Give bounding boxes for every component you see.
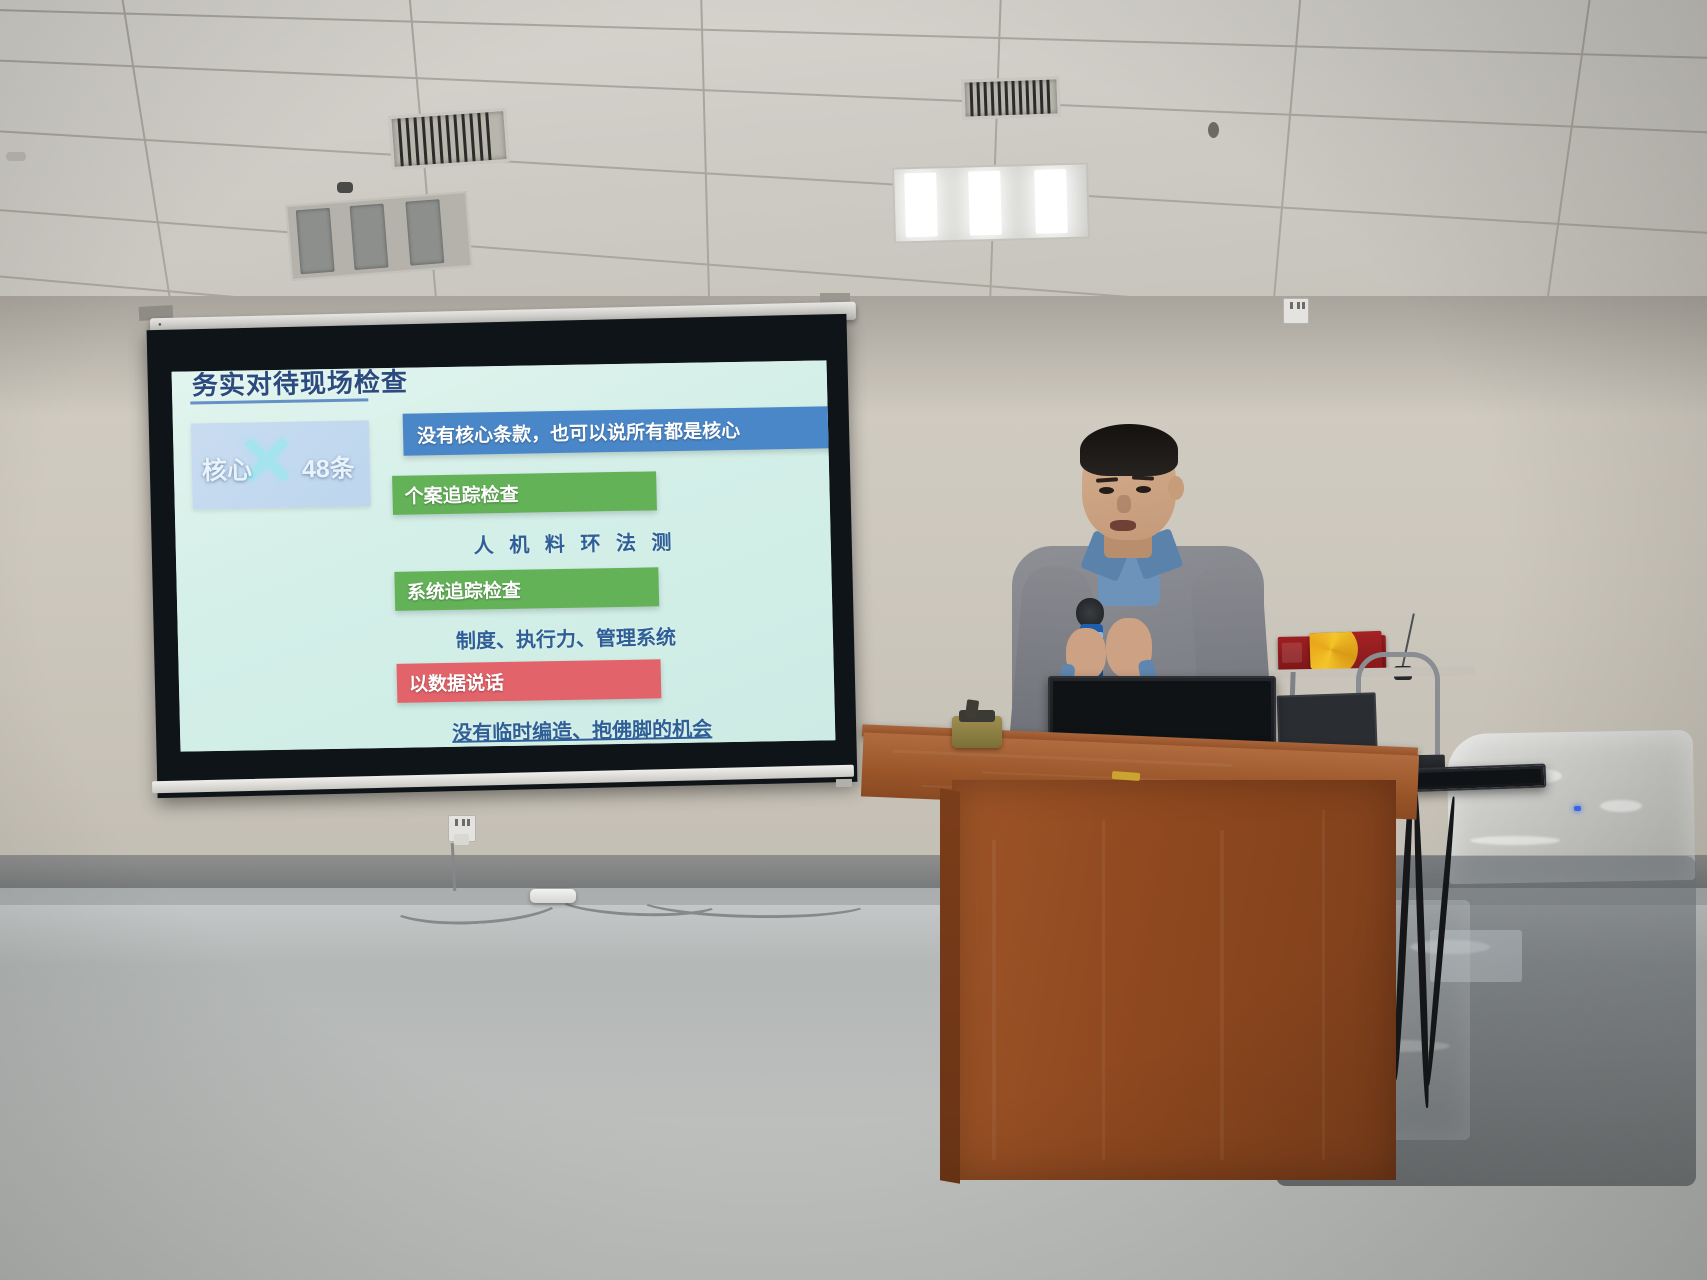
slide-bar-4: 以数据说话: [397, 659, 662, 703]
presenter-eye-right: [1136, 486, 1151, 493]
slide-bar-3-text: 系统追踪检查: [406, 576, 521, 605]
presenter-mouth: [1110, 520, 1136, 531]
status-led: [1574, 806, 1581, 811]
screen-brand-label: ●: [158, 322, 162, 328]
slide-bar-2: 个案追踪检查: [392, 471, 657, 515]
smoke-detector: [337, 182, 353, 193]
screen-weight-tab: [836, 779, 852, 787]
laptop-right[interactable]: [1402, 763, 1547, 792]
air-vent-left: [388, 108, 509, 170]
brass-cup: [952, 716, 1002, 748]
presenter-ear: [1168, 476, 1184, 500]
cup-contents: [965, 699, 979, 718]
ceiling-hook: [1208, 122, 1219, 138]
core-count: 48条: [301, 449, 355, 486]
core-count-box: ✕ 核心 48条: [191, 420, 371, 509]
floor-power-strip[interactable]: [530, 889, 576, 903]
podium-body: [952, 780, 1396, 1180]
presenter-eye-left: [1099, 487, 1114, 494]
ceiling: [0, 0, 1707, 300]
slide-bar-1: 没有核心条款，也可以说所有都是核心: [403, 406, 836, 456]
air-vent-right: [961, 76, 1060, 119]
outlet-plug: [454, 834, 469, 845]
slide-sub-2: 人 机 料 环 法 测: [473, 526, 676, 559]
light-panel-left: [285, 191, 472, 281]
core-label: 核心: [201, 450, 252, 487]
slide-bar-3: 系统追踪检查: [394, 567, 659, 611]
presenter-nose: [1117, 495, 1131, 513]
slide-bar-4-text: 以数据说话: [409, 668, 505, 697]
slide-sub-4: 没有临时编造、抱佛脚的机会: [452, 712, 713, 746]
light-panel-right: [892, 162, 1090, 243]
projected-slide: 务实对待现场检查 ✕ 核心 48条 没有核心条款，也可以说所有都是核心 个案追踪…: [172, 360, 836, 751]
slide-bar-1-text: 没有核心条款，也可以说所有都是核心: [417, 415, 741, 448]
presenter-hair: [1080, 424, 1178, 476]
ceiling-fitting: [6, 152, 26, 161]
scene-photograph: ● 务实对待现场检查 ✕ 核心 48条 没有核心条款，也可以说所有都是核心 个案…: [0, 0, 1707, 1280]
slide-sub-3: 制度、执行力、管理系统: [456, 621, 677, 654]
wall-outlet-right[interactable]: [1283, 298, 1309, 324]
red-box-2-fan-graphic: [1309, 631, 1359, 671]
slide-bar-2-text: 个案追踪检查: [404, 480, 519, 509]
podium-left-side: [940, 788, 960, 1184]
